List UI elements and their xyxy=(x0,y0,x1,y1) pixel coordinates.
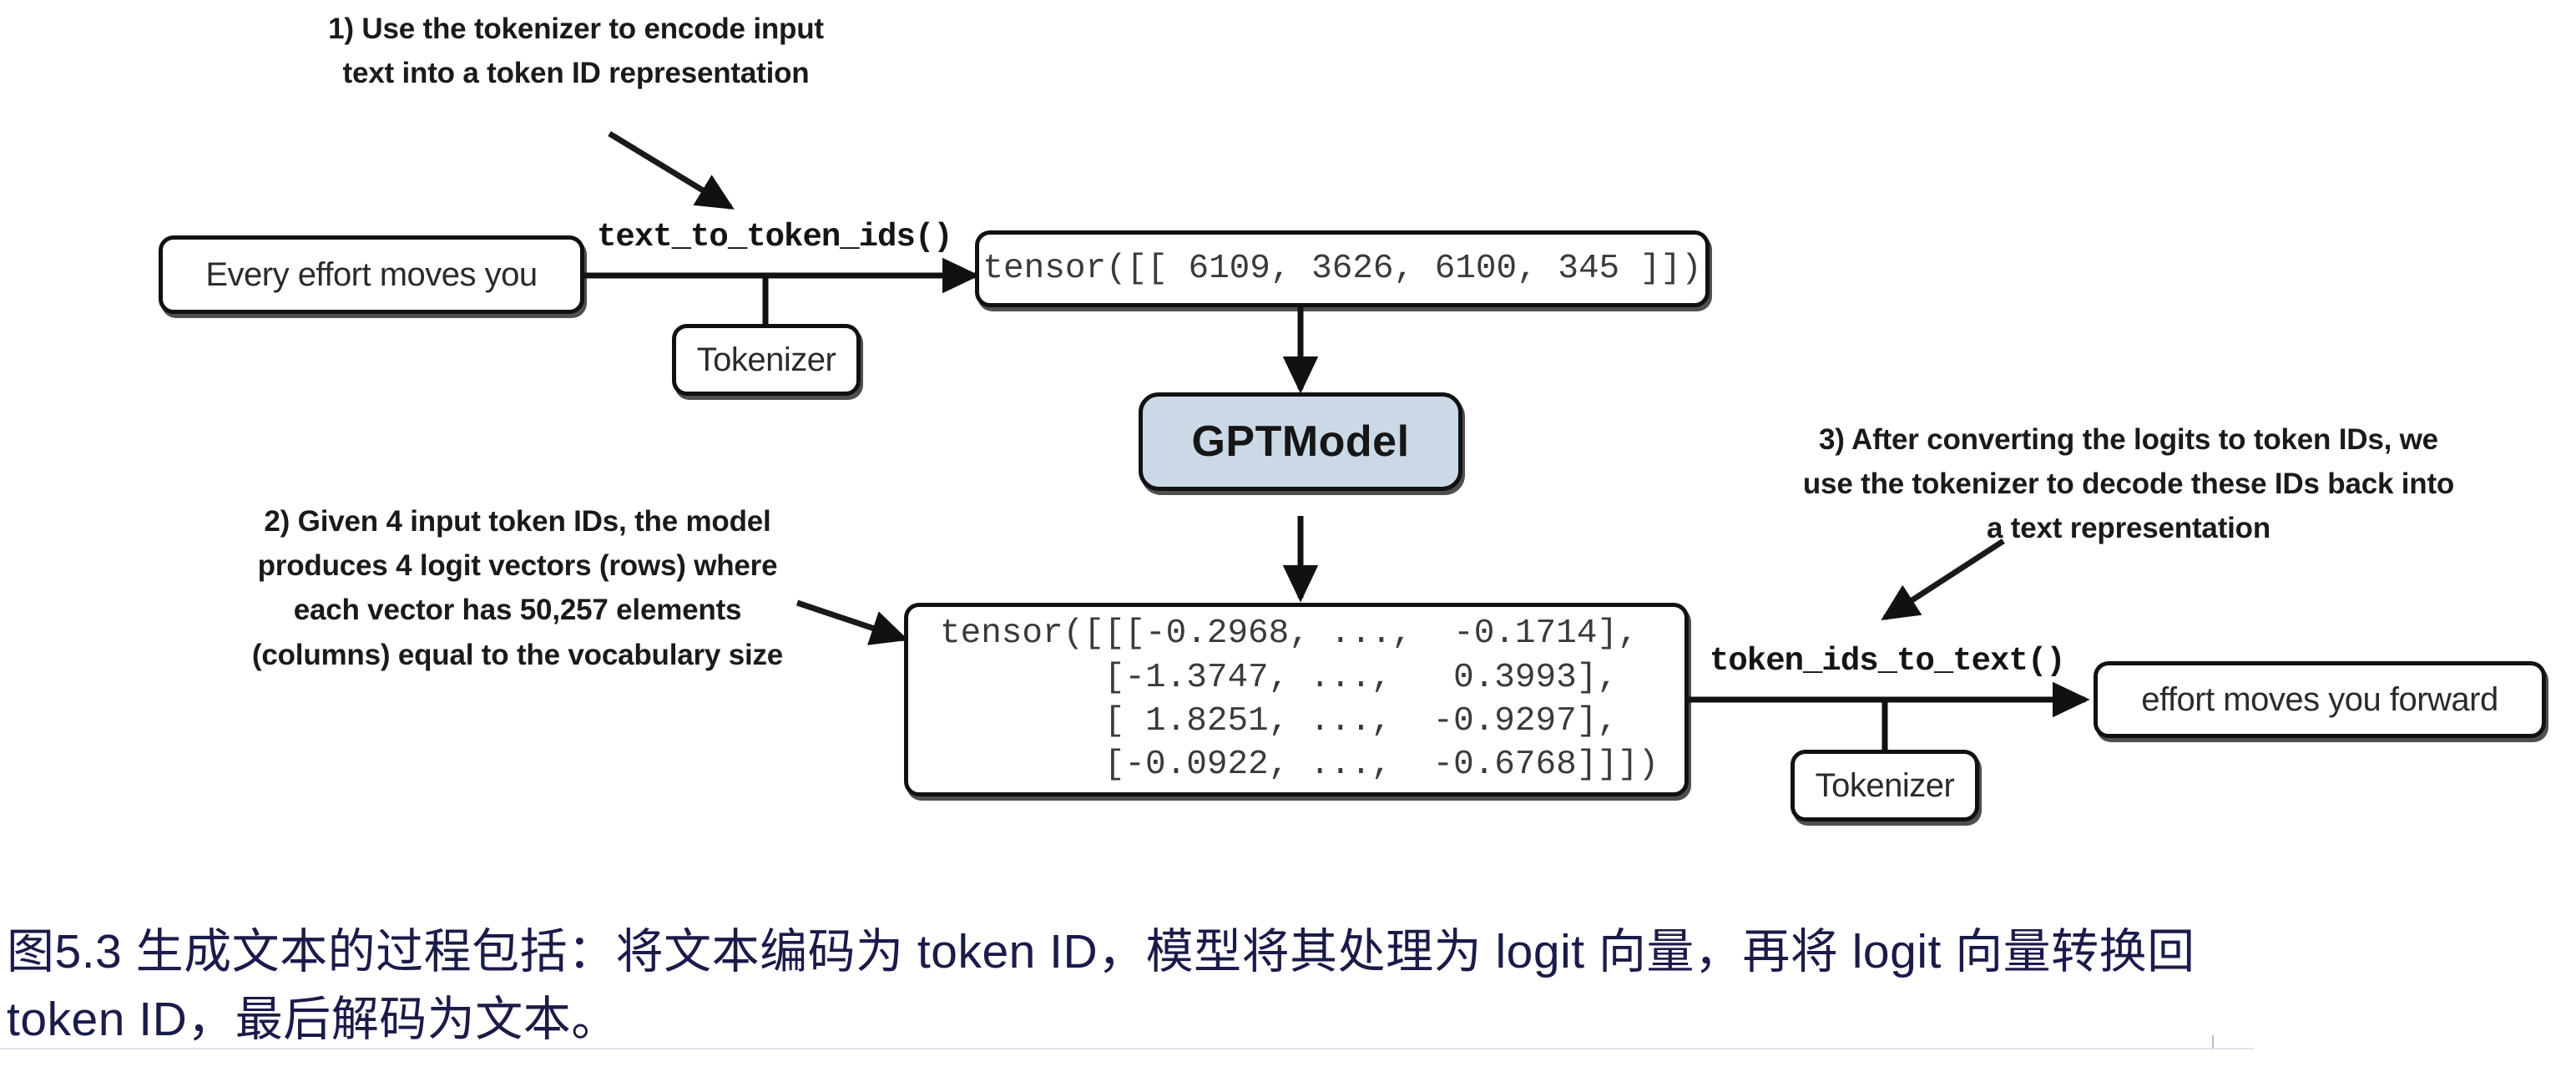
node-input-text-label: Every effort moves you xyxy=(205,256,537,294)
annotation-step-3: 3) After converting the logits to token … xyxy=(1761,417,2496,551)
figure-canvas: 1) Use the tokenizer to encode input tex… xyxy=(0,0,2576,1087)
node-gpt-model-label: GPTModel xyxy=(1191,417,1409,467)
node-logits-tensor-label: tensor([[[-0.2968, ..., -0.1714], [-1.37… xyxy=(940,612,1659,787)
node-input-text[interactable]: Every effort moves you xyxy=(159,235,584,314)
node-token-ids-tensor-label: tensor([[ 6109, 3626, 6100, 345 ]]) xyxy=(982,247,1701,291)
label-text-to-token-ids: text_to_token_ids() xyxy=(597,219,952,255)
node-output-text-label: effort moves you forward xyxy=(2141,681,2498,719)
node-output-text[interactable]: effort moves you forward xyxy=(2094,661,2546,738)
node-token-ids-tensor[interactable]: tensor([[ 6109, 3626, 6100, 345 ]]) xyxy=(975,230,1710,307)
node-tokenizer-top[interactable]: Tokenizer xyxy=(672,324,861,396)
node-gpt-model[interactable]: GPTModel xyxy=(1139,392,1462,491)
annotation-step-1: 1) Use the tokenizer to encode input tex… xyxy=(275,7,876,95)
node-logits-tensor[interactable]: tensor([[[-0.2968, ..., -0.1714], [-1.37… xyxy=(904,603,1689,796)
node-tokenizer-bottom-label: Tokenizer xyxy=(1816,767,1955,805)
node-tokenizer-top-label: Tokenizer xyxy=(697,341,836,379)
arrow-step3 xyxy=(1885,541,2003,618)
figure-caption-line-2: token ID，最后解码为文本。 xyxy=(7,986,2569,1054)
figure-caption-line-1: 图5.3 生成文本的过程包括：将文本编码为 token ID，模型将其处理为 l… xyxy=(7,918,2569,986)
page-tick-mark xyxy=(2212,1035,2214,1049)
figure-caption: 图5.3 生成文本的过程包括：将文本编码为 token ID，模型将其处理为 l… xyxy=(7,918,2569,1054)
arrow-step1 xyxy=(609,134,730,207)
annotation-step-2: 2) Given 4 input token IDs, the model pr… xyxy=(200,499,835,677)
node-tokenizer-bottom[interactable]: Tokenizer xyxy=(1791,750,1979,822)
label-token-ids-to-text: token_ids_to_text() xyxy=(1710,643,2065,680)
caption-underline xyxy=(0,1048,2254,1049)
